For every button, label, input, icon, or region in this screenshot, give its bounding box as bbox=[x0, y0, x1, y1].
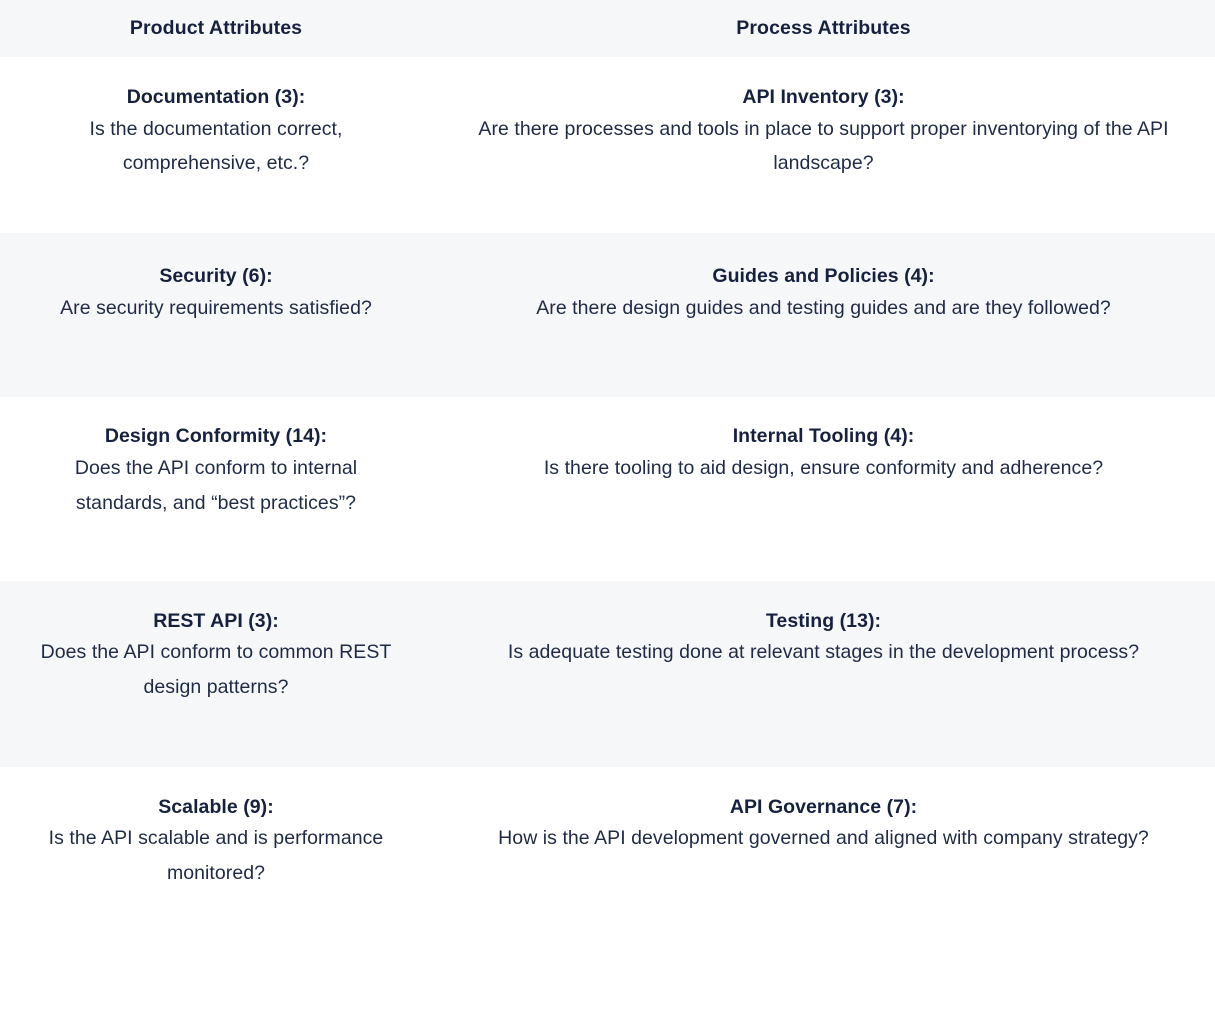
column-header-process-attributes: Process Attributes bbox=[432, 0, 1215, 57]
attribute-cell-internal-tooling: Internal Tooling (4): Is there tooling t… bbox=[432, 397, 1215, 580]
attribute-cell-testing: Testing (13): Is adequate testing done a… bbox=[432, 581, 1215, 767]
table-row: Design Conformity (14): Does the API con… bbox=[0, 397, 1215, 580]
attribute-title: Documentation (3): bbox=[16, 84, 416, 112]
attribute-description: Is adequate testing done at relevant sta… bbox=[464, 635, 1184, 670]
table-row: REST API (3): Does the API conform to co… bbox=[0, 581, 1215, 767]
attributes-table: Product Attributes Process Attributes Do… bbox=[0, 0, 1215, 913]
attribute-title: Testing (13): bbox=[462, 608, 1185, 636]
attribute-cell-api-governance: API Governance (7): How is the API devel… bbox=[432, 767, 1215, 913]
attribute-title: Scalable (9): bbox=[16, 794, 416, 822]
attribute-cell-guides-and-policies: Guides and Policies (4): Are there desig… bbox=[432, 233, 1215, 397]
attribute-description: Is the documentation correct, comprehens… bbox=[30, 112, 402, 181]
table-row: Documentation (3): Is the documentation … bbox=[0, 57, 1215, 233]
header-row: Product Attributes Process Attributes bbox=[0, 0, 1215, 57]
attribute-description: Does the API conform to internal standar… bbox=[30, 451, 402, 520]
attribute-title: Internal Tooling (4): bbox=[462, 423, 1185, 451]
attribute-description: Is there tooling to aid design, ensure c… bbox=[464, 451, 1184, 486]
attribute-description: Are there processes and tools in place t… bbox=[464, 112, 1184, 181]
attribute-cell-documentation: Documentation (3): Is the documentation … bbox=[0, 57, 432, 233]
attribute-title: Security (6): bbox=[16, 263, 416, 291]
attribute-title: Guides and Policies (4): bbox=[462, 263, 1185, 291]
attribute-cell-rest-api: REST API (3): Does the API conform to co… bbox=[0, 581, 432, 767]
attribute-description: How is the API development governed and … bbox=[464, 821, 1184, 856]
attribute-cell-scalable: Scalable (9): Is the API scalable and is… bbox=[0, 767, 432, 913]
attribute-title: API Governance (7): bbox=[462, 794, 1185, 822]
attribute-title: API Inventory (3): bbox=[462, 84, 1185, 112]
table-body: Documentation (3): Is the documentation … bbox=[0, 57, 1215, 913]
attribute-cell-design-conformity: Design Conformity (14): Does the API con… bbox=[0, 397, 432, 580]
attribute-title: Design Conformity (14): bbox=[16, 423, 416, 451]
table-header: Product Attributes Process Attributes bbox=[0, 0, 1215, 57]
attribute-cell-security: Security (6): Are security requirements … bbox=[0, 233, 432, 397]
attribute-description: Does the API conform to common REST desi… bbox=[30, 635, 402, 704]
attribute-description: Are security requirements satisfied? bbox=[30, 291, 402, 326]
column-header-product-attributes: Product Attributes bbox=[0, 0, 432, 57]
attribute-description: Is the API scalable and is performance m… bbox=[30, 821, 402, 890]
attribute-title: REST API (3): bbox=[16, 608, 416, 636]
attribute-description: Are there design guides and testing guid… bbox=[464, 291, 1184, 326]
table-row: Scalable (9): Is the API scalable and is… bbox=[0, 767, 1215, 913]
table-row: Security (6): Are security requirements … bbox=[0, 233, 1215, 397]
attribute-cell-api-inventory: API Inventory (3): Are there processes a… bbox=[432, 57, 1215, 233]
